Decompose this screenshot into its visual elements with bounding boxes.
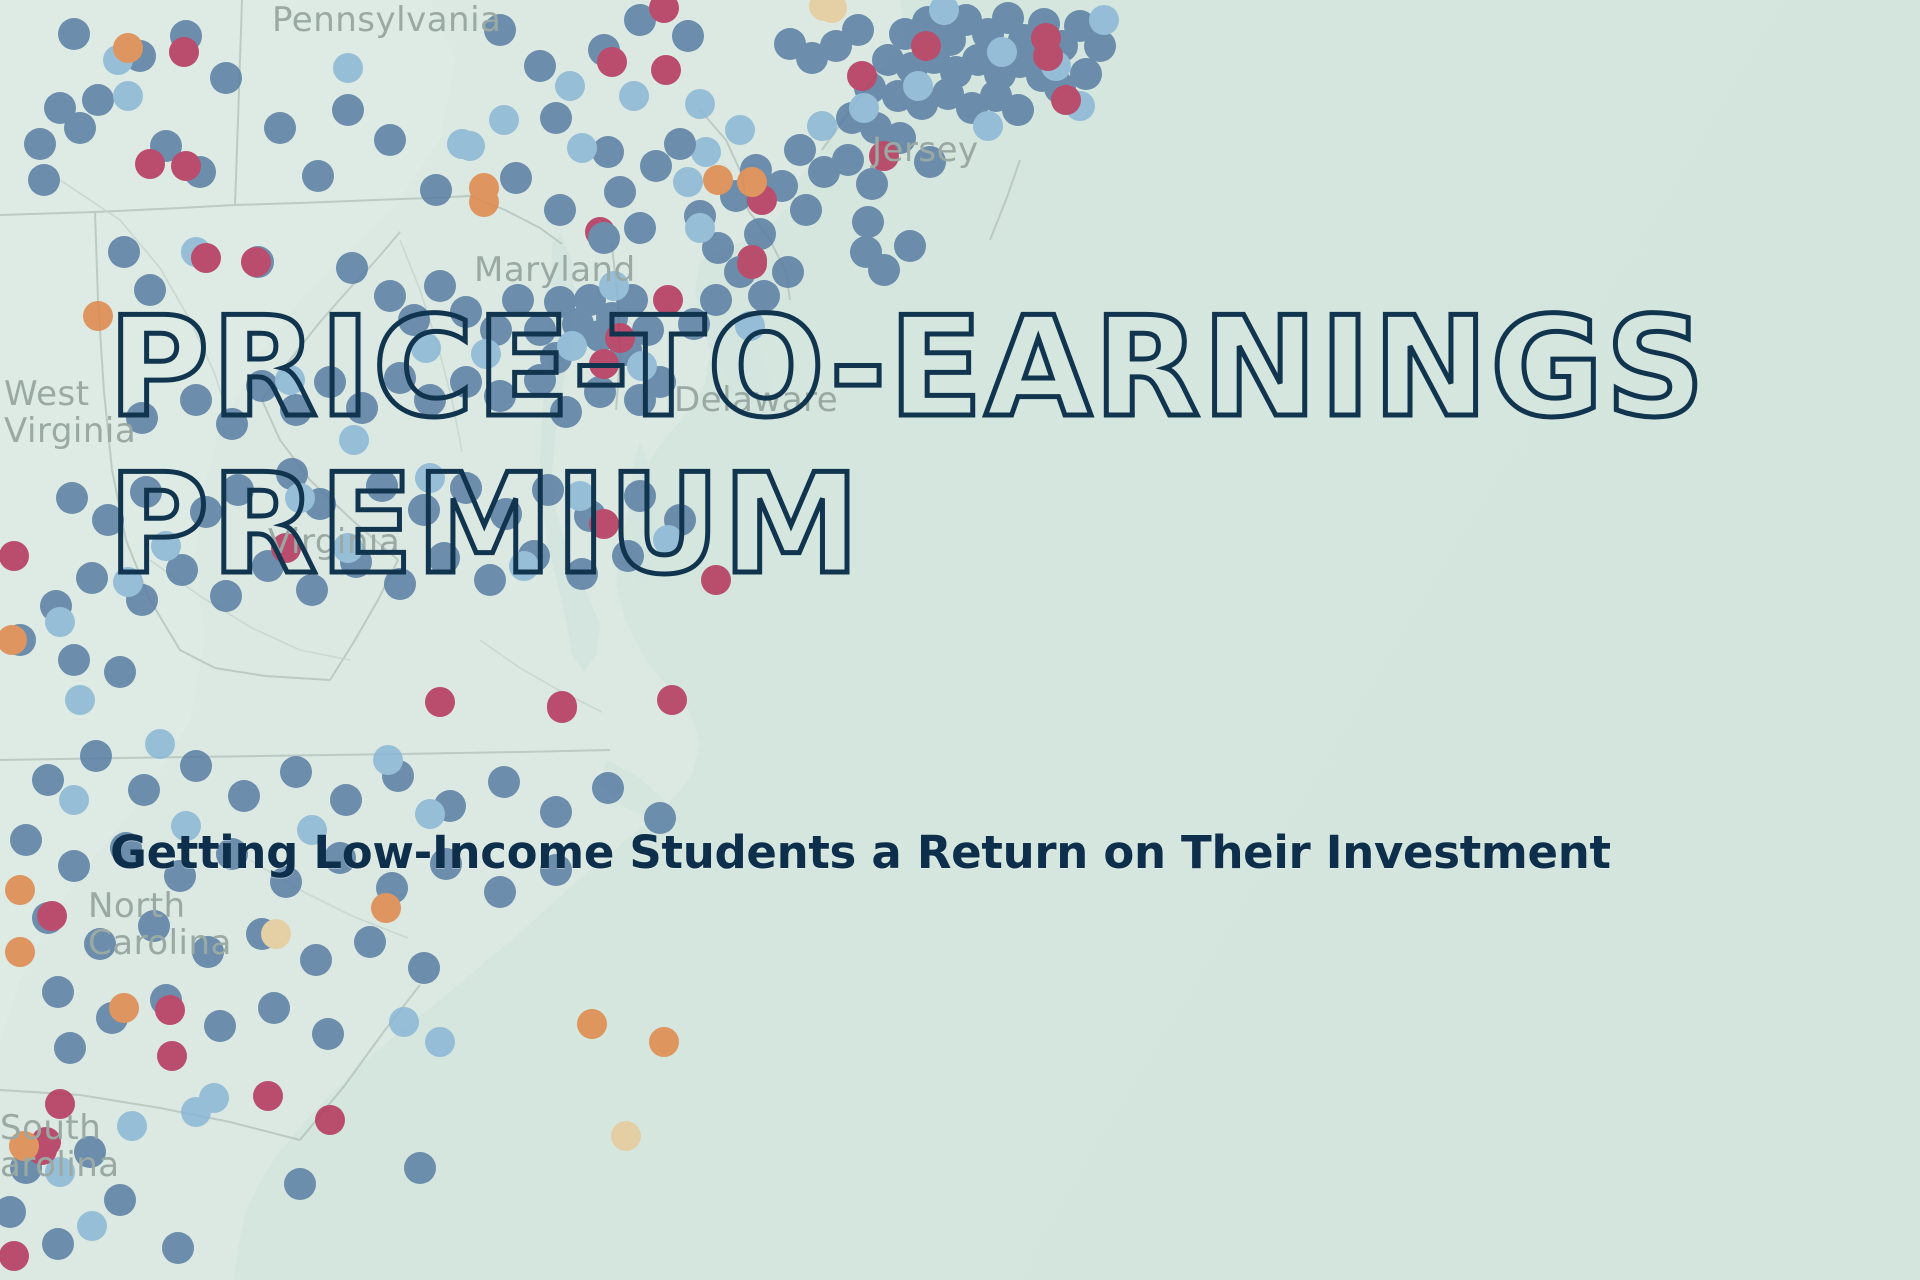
map-label-north-carolina: North Carolina — [88, 888, 232, 961]
cover-title-block: PRICE-TO-EARNINGS PREMIUM — [108, 300, 1888, 614]
cover-canvas: PennsylvaniaJerseyMarylandDelawareWest V… — [0, 0, 1920, 1280]
map-label-south-carolina: South arolina — [0, 1110, 120, 1183]
map-label-pennsylvania: Pennsylvania — [272, 2, 501, 39]
title-line-1: PRICE-TO-EARNINGS — [108, 300, 1888, 435]
title-line-2: PREMIUM — [108, 457, 1888, 592]
cover-subtitle: Getting Low-Income Students a Return on … — [110, 826, 1611, 879]
basemap — [0, 0, 1920, 1280]
map-label-jersey: Jersey — [872, 132, 979, 169]
map-label-maryland: Maryland — [474, 252, 636, 289]
